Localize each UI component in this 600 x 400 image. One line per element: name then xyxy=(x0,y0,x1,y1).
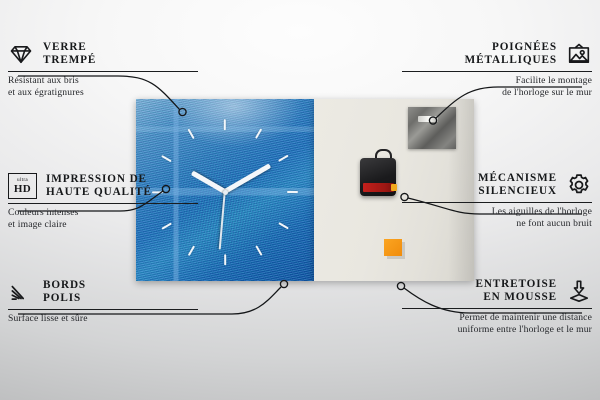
clock-center-pin xyxy=(223,190,228,195)
clock-tick xyxy=(224,119,226,130)
clock-tick xyxy=(287,191,298,193)
clock-tick xyxy=(224,254,226,265)
clock-tick xyxy=(187,245,195,256)
callout-header: MÉCANISME SILENCIEUX xyxy=(402,172,592,199)
callout-description: Permet de maintenir une distance uniform… xyxy=(402,312,592,335)
clock-tick xyxy=(187,128,195,139)
callout-description: Couleurs intenses et image claire xyxy=(8,207,198,230)
polished-edges-icon xyxy=(8,279,34,305)
callout-description: Facilite le montage de l'horloge sur le … xyxy=(402,75,592,98)
callout-title: BORDS POLIS xyxy=(43,279,86,306)
picture-hanger-icon xyxy=(566,41,592,67)
callout-header: VERRE TREMPÉ xyxy=(8,41,198,68)
callout-title: ENTRETOISE EN MOUSSE xyxy=(475,278,557,305)
callout-rule xyxy=(402,308,592,310)
battery-part xyxy=(363,183,394,192)
callout-rule xyxy=(402,71,592,73)
foam-spacer-icon xyxy=(566,278,592,304)
infographic-canvas: VERRE TREMPÉ Résistant aux bris et aux é… xyxy=(0,0,600,400)
feature-callout-mecanisme-silencieux: MÉCANISME SILENCIEUX Les aiguilles de l'… xyxy=(402,172,592,230)
callout-header: BORDS POLIS xyxy=(8,279,198,306)
foam-spacer-part xyxy=(384,239,402,256)
callout-title: MÉCANISME SILENCIEUX xyxy=(478,172,557,199)
feature-callout-poignees-metalliques: POIGNÉES MÉTALLIQUES Facilite le montage… xyxy=(402,41,592,99)
callout-rule xyxy=(8,309,198,311)
callout-header: ultra HD IMPRESSION DE HAUTE QUALITÉ xyxy=(8,173,198,200)
gear-icon xyxy=(566,172,592,198)
feature-callout-bords-polis: BORDS POLIS Surface lisse et sûre xyxy=(8,279,198,325)
callout-rule xyxy=(8,71,198,73)
clock-tick xyxy=(278,222,289,230)
feature-callout-verre-trempe: VERRE TREMPÉ Résistant aux bris et aux é… xyxy=(8,41,198,99)
callout-title: IMPRESSION DE HAUTE QUALITÉ xyxy=(46,173,152,200)
clock-second-hand xyxy=(219,192,226,250)
callout-header: POIGNÉES MÉTALLIQUES xyxy=(402,41,592,68)
callout-rule xyxy=(402,202,592,204)
clock-minute-hand xyxy=(224,164,272,194)
clock-tick xyxy=(255,245,263,256)
ultra-hd-icon: ultra HD xyxy=(8,173,37,199)
callout-description: Résistant aux bris et aux égratignures xyxy=(8,75,198,98)
callout-title: POIGNÉES MÉTALLIQUES xyxy=(465,41,557,68)
feature-callout-entretoise-en-mousse: ENTRETOISE EN MOUSSE Permet de maintenir… xyxy=(402,278,592,336)
metal-hanger-part xyxy=(408,107,456,149)
diamond-icon xyxy=(8,41,34,67)
callout-title: VERRE TREMPÉ xyxy=(43,41,96,68)
callout-header: ENTRETOISE EN MOUSSE xyxy=(402,278,592,305)
clock-tick xyxy=(255,128,263,139)
callout-description: Les aiguilles de l'horloge ne font aucun… xyxy=(402,206,592,229)
callout-rule xyxy=(8,203,198,205)
clock-tick xyxy=(161,154,172,162)
callout-description: Surface lisse et sûre xyxy=(8,313,198,325)
feature-callout-impression-haute-qualite: ultra HD IMPRESSION DE HAUTE QUALITÉ Cou… xyxy=(8,173,198,231)
clock-tick xyxy=(278,154,289,162)
